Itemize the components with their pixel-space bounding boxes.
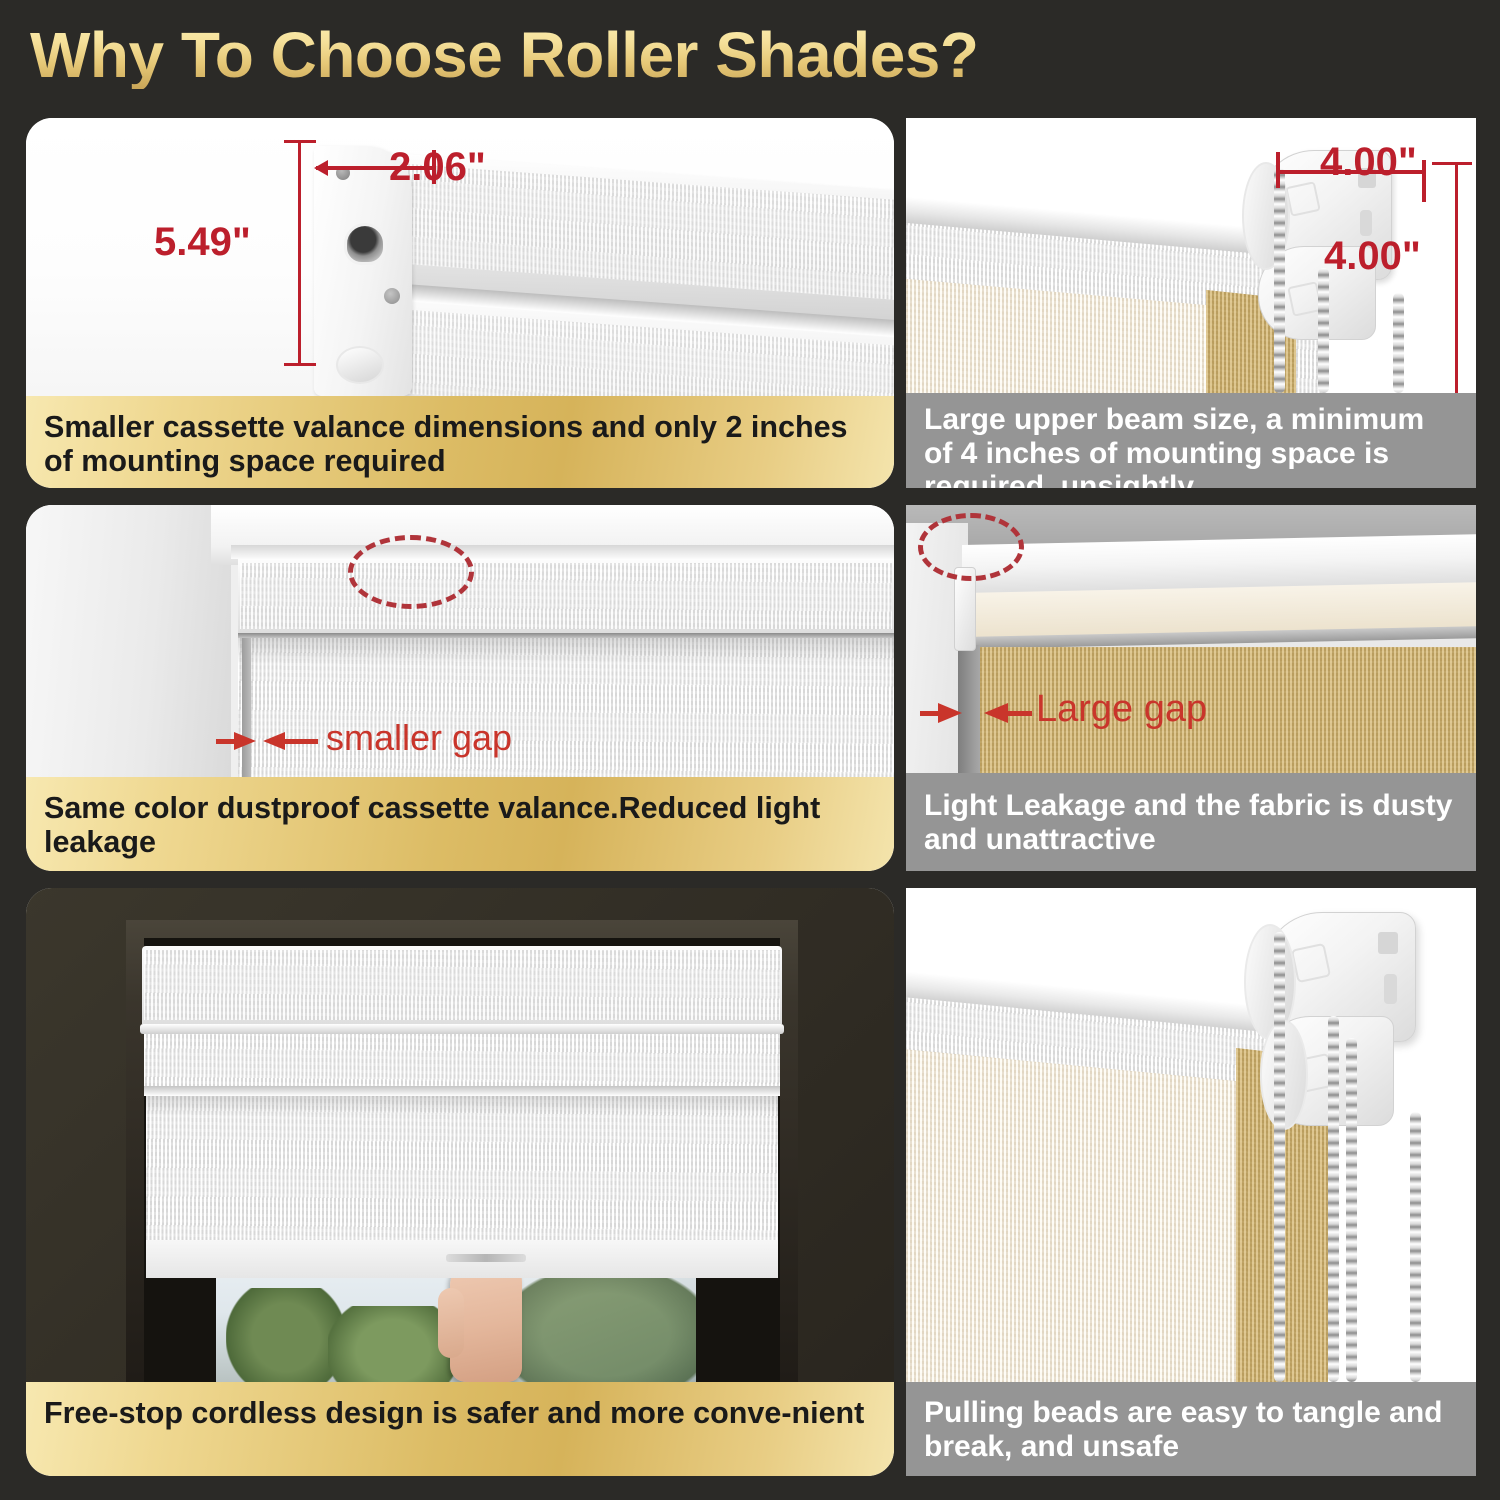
panel-con-light-leakage: Large gap Light Leakage and the fabric i… (906, 505, 1476, 871)
caption-con-pulling-beads: Pulling beads are easy to tangle and bre… (906, 1382, 1476, 1476)
bracket-emboss-upper (1285, 181, 1321, 217)
beam-width-dim-label: 4.00" (1320, 140, 1417, 185)
panel-con-beam-size: 4.00" 4.00" Large upper beam size, a min… (906, 118, 1476, 488)
hand-thumb (438, 1288, 464, 1358)
photo-large-beam: 4.00" 4.00" (906, 118, 1476, 393)
bead-chain-3[interactable] (1346, 1038, 1357, 1382)
caption-text: Smaller cassette valance dimensions and … (44, 410, 876, 478)
bead-chain-1[interactable] (1274, 932, 1285, 1382)
width-dimension-label: 2.06" (389, 145, 486, 190)
caption-text: Pulling beads are easy to tangle and bre… (924, 1396, 1458, 1463)
caption-text: Light Leakage and the fabric is dusty an… (924, 789, 1458, 856)
photo-cordless-window-scene (26, 888, 894, 1382)
beads-bracket-slot-upper (1378, 932, 1398, 954)
beads-bracket-slot-lower (1384, 974, 1397, 1004)
bead-chain-right[interactable] (1393, 293, 1404, 393)
smaller-gap-label: smaller gap (326, 717, 512, 759)
height-dimension-label: 5.49" (154, 220, 251, 265)
caption-text: Free-stop cordless design is safer and m… (44, 1396, 864, 1430)
bracket-slot-lower (1360, 210, 1372, 236)
valance-layer-shadow (144, 1086, 780, 1096)
width-dimension-arrow (314, 160, 328, 176)
gap-arrow-left-tail (216, 739, 238, 744)
photo-light-leakage: Large gap (906, 505, 1476, 773)
end-cap-bottom-roller (336, 346, 384, 384)
end-cap-clutch-socket (344, 223, 386, 265)
headrail-lip (140, 1024, 784, 1034)
height-dimension-line (298, 140, 301, 366)
caption-pro-cassette-size: Smaller cassette valance dimensions and … (26, 396, 894, 488)
shade-fabric-top-shadow (146, 1096, 778, 1116)
cordless-valance-layer (144, 1034, 780, 1090)
bead-chain-4[interactable] (1410, 1112, 1421, 1382)
gap-arrow-right (984, 703, 1008, 723)
beam-height-tick-top (1432, 162, 1472, 165)
beads-cream-fabric (906, 1048, 1292, 1382)
beam-width-tick-left (1276, 152, 1280, 188)
smaller-gap-strip (242, 638, 251, 777)
height-dimension-tick-top (284, 140, 316, 143)
height-dimension-tick-bottom (284, 363, 316, 366)
photo-dustproof-valance: smaller gap (26, 505, 894, 777)
beads-bracket-emboss-upper (1291, 943, 1331, 983)
caption-pro-cordless-design: Free-stop cordless design is safer and m… (26, 1382, 894, 1476)
window-frame-inner-edge (231, 545, 894, 559)
caption-text: Large upper beam size, a minimum of 4 in… (924, 403, 1458, 488)
cordless-headrail-texture (144, 950, 780, 1020)
panel-pro-dustproof-valance: smaller gap Same color dustproof cassett… (26, 505, 894, 871)
photo-pulling-beads (906, 888, 1476, 1382)
bead-chain-2[interactable] (1328, 1016, 1339, 1382)
gap-arrow-left-tail (920, 711, 944, 716)
window-frame-left (26, 505, 231, 777)
bead-chain-middle[interactable] (1318, 268, 1329, 393)
panel-pro-cassette-size: 5.49" 2.06" Smaller cassette valance dim… (26, 118, 894, 488)
dustproof-cassette-texture (240, 563, 892, 629)
beam-height-dim-label: 4.00" (1324, 234, 1421, 279)
bottom-rail-grip (446, 1254, 526, 1262)
caption-text: Same color dustproof cassette valance.Re… (44, 791, 876, 859)
gap-arrow-right-tail (1006, 711, 1032, 716)
shade-fabric-shadow (238, 638, 894, 664)
caption-con-light-leakage: Light Leakage and the fabric is dusty an… (906, 773, 1476, 871)
gap-arrow-right-tail (284, 739, 318, 744)
caption-con-beam-size: Large upper beam size, a minimum of 4 in… (906, 393, 1476, 488)
bead-chain-left[interactable] (1274, 168, 1285, 393)
page-title: Why To Choose Roller Shades? (30, 22, 978, 89)
panel-pro-cordless-design: Free-stop cordless design is safer and m… (26, 888, 894, 1476)
gap-arrow-right (263, 732, 285, 750)
panel-con-pulling-beads: Pulling beads are easy to tangle and bre… (906, 888, 1476, 1476)
caption-pro-dustproof-valance: Same color dustproof cassette valance.Re… (26, 777, 894, 871)
photo-cassette-valance: 5.49" 2.06" (26, 118, 894, 396)
dashed-highlight-ellipse (348, 535, 474, 609)
beam-height-dim-line (1455, 162, 1458, 393)
large-gap-label: Large gap (1036, 688, 1207, 731)
dashed-highlight-ellipse (918, 513, 1024, 581)
end-cap-screw-lower (384, 288, 400, 304)
beam-width-tick-right (1422, 160, 1426, 202)
